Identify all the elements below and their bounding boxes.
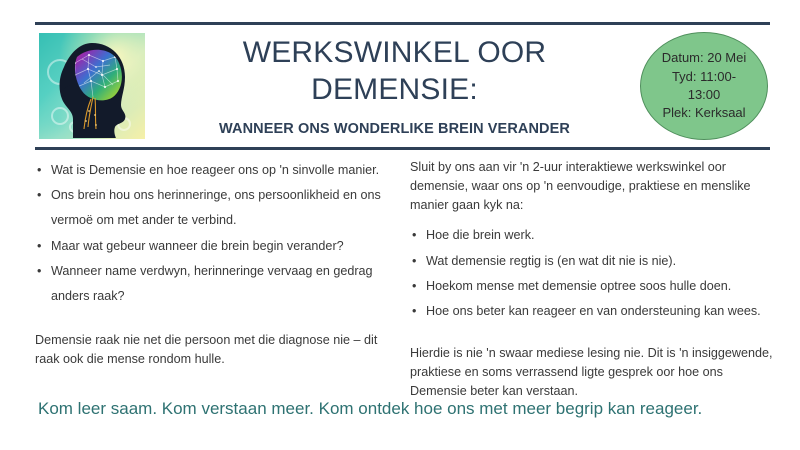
poster-title: WERKSWINKEL OOR DEMENSIE: xyxy=(155,35,634,108)
right-column-paragraph: Hierdie is nie 'n swaar mediese lesing n… xyxy=(410,344,775,401)
list-item: Wat is Demensie en hoe reageer ons op 'n… xyxy=(35,158,387,183)
poster-title-line-1: WERKSWINKEL OOR xyxy=(155,35,634,72)
brain-network-head-icon xyxy=(39,33,145,139)
event-details-badge: Datum: 20 Mei Tyd: 11:00- 13:00 Plek: Ke… xyxy=(640,32,768,140)
poster-title-line-2: DEMENSIE: xyxy=(155,72,634,109)
badge-date-line: Datum: 20 Mei xyxy=(662,49,747,67)
content-columns: Wat is Demensie en hoe reageer ons op 'n… xyxy=(35,158,775,393)
list-item: Wanneer name verdwyn, herinneringe verva… xyxy=(35,259,387,309)
list-item: Hoe die brein werk. xyxy=(410,223,775,248)
list-item: Wat demensie regtig is (en wat dit nie i… xyxy=(410,249,775,274)
title-block: WERKSWINKEL OOR DEMENSIE: WANNEER ONS WO… xyxy=(145,35,640,136)
poster-root: WERKSWINKEL OOR DEMENSIE: WANNEER ONS WO… xyxy=(0,0,800,450)
badge-time-line-1: Tyd: 11:00- xyxy=(672,68,736,86)
badge-time-line-2: 13:00 xyxy=(688,86,721,104)
call-to-action-text: Kom leer saam. Kom verstaan meer. Kom on… xyxy=(38,398,783,420)
list-item: Hoe ons beter kan reageer en van onderst… xyxy=(410,299,775,324)
left-column: Wat is Demensie en hoe reageer ons op 'n… xyxy=(35,158,405,393)
right-column: Sluit by ons aan vir 'n 2-uur interaktie… xyxy=(405,158,775,393)
poster-subtitle: WANNEER ONS WONDERLIKE BREIN VERANDER xyxy=(155,121,634,137)
left-column-paragraph: Demensie raak nie net die persoon met di… xyxy=(35,331,387,369)
right-bullet-list: Hoe die brein werk. Wat demensie regtig … xyxy=(410,223,775,324)
badge-venue-line: Plek: Kerksaal xyxy=(662,104,745,122)
right-column-intro: Sluit by ons aan vir 'n 2-uur interaktie… xyxy=(410,158,775,215)
head-silhouette-icon xyxy=(55,41,131,139)
list-item: Ons brein hou ons herinneringe, ons pers… xyxy=(35,183,387,233)
list-item: Hoekom mense met demensie optree soos hu… xyxy=(410,274,775,299)
poster-header: WERKSWINKEL OOR DEMENSIE: WANNEER ONS WO… xyxy=(35,22,770,150)
list-item: Maar wat gebeur wanneer die brein begin … xyxy=(35,234,387,259)
left-bullet-list: Wat is Demensie en hoe reageer ons op 'n… xyxy=(35,158,387,309)
